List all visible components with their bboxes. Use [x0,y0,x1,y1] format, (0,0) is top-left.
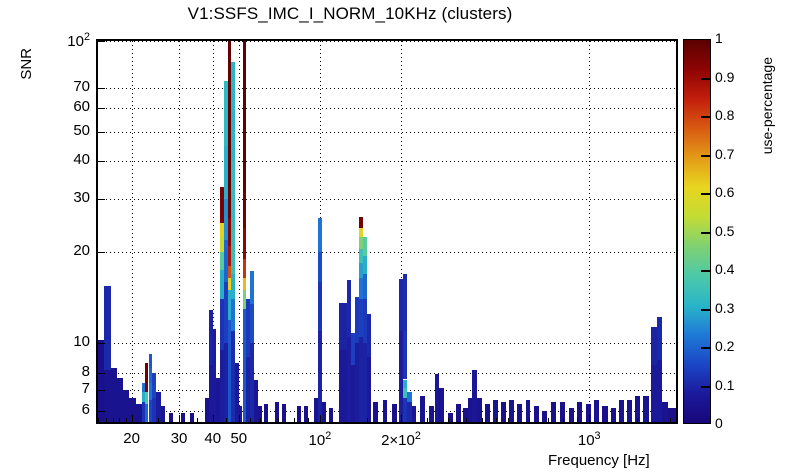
colorbar-title: use-percentage [759,57,775,154]
histogram-column [668,408,676,422]
x-axis-minor-tick [529,418,530,422]
gridline-vertical [179,41,180,422]
histogram-cell [407,392,411,402]
histogram-cell [403,380,408,389]
histogram-cell [231,274,235,300]
histogram-cell [104,286,110,370]
colorbar-label: 0.2 [715,339,734,353]
histogram-column [420,396,424,422]
histogram-cell [231,299,235,331]
histogram-cell [611,408,616,422]
histogram-cell [392,404,396,422]
histogram-column [619,400,624,422]
histogram-cell [243,290,247,309]
histogram-column [501,402,506,422]
gridline-vertical [589,41,590,422]
histogram-cell [403,331,408,380]
x-axis-title: Frequency [Hz] [548,452,650,469]
histogram-cell [477,398,482,422]
histogram-cell [228,266,232,277]
gridline-horizontal [98,108,676,109]
histogram-column [509,400,514,422]
x-axis-minor-tick [496,418,497,422]
histogram-cell [228,278,232,291]
histogram-cell [231,62,235,161]
histogram-cell [347,280,351,337]
histogram-cell [619,400,624,422]
y-axis-tick [98,88,105,89]
x-axis-minor-tick [308,418,309,422]
y-axis-label: 60 [20,99,90,114]
histogram-cell [228,320,232,422]
gridline-horizontal [98,252,676,253]
y-axis-label: 50 [20,123,90,138]
colorbar-label: 0.1 [715,378,734,392]
histogram-column [611,408,616,422]
histogram-column [534,406,539,422]
x-axis-minor-tick [548,418,549,422]
colorbar-tick [701,155,710,157]
y-axis-label: 8 [20,364,90,379]
x-axis-minor-tick [278,418,279,422]
y-axis-label: 20 [20,243,90,258]
y-axis-label: 10 [20,334,90,349]
gridline-horizontal [98,199,676,200]
histogram-column [429,406,433,422]
plot-frame [96,39,678,424]
x-axis-minor-tick [294,418,295,422]
x-axis-label: 2×102 [361,431,441,448]
histogram-cell [282,404,286,422]
x-axis-minor-tick [563,418,564,422]
histogram-cell [250,271,254,304]
histogram-cell [420,396,424,422]
histogram-cell [181,413,185,422]
x-axis-tick [239,415,240,422]
x-axis-tick [179,415,180,422]
histogram-column [456,404,461,422]
x-axis-minor-tick [448,418,449,422]
histogram-cell [149,354,153,368]
histogram-cell [264,404,268,422]
histogram-column [569,408,574,422]
y-axis-label: 40 [20,152,90,167]
histogram-cell [243,41,247,191]
histogram-cell [373,402,377,422]
colorbar-label: 0.5 [715,224,734,238]
y-axis-tick [98,252,105,253]
histogram-cell [403,274,408,331]
colorbar-label: 1 [715,31,723,45]
histogram-cell [367,314,371,357]
histogram-column [297,406,301,422]
histogram-column [517,404,522,422]
histogram-cell [213,329,217,373]
colorbar-tick [701,232,710,234]
histogram-cell [359,228,363,236]
colorbar-tick [701,78,710,80]
y-axis-title: SNR [18,48,35,80]
histogram-cell [243,309,247,422]
gridline-horizontal [98,132,676,133]
colorbar-label: 0 [715,416,723,430]
histogram-column [383,400,387,422]
histogram-cell [534,406,539,422]
x-axis-label: 50 [199,431,279,446]
y-axis-tick [98,343,105,344]
histogram-cell [657,317,663,360]
y-axis-label: 6 [20,402,90,417]
histogram-column [439,388,444,422]
histogram-cell [322,402,326,422]
colorbar-label: 0.4 [715,262,734,276]
histogram-column [602,406,607,422]
colorbar-tick [701,116,710,118]
x-axis-minor-tick [367,418,368,422]
x-axis-minor-tick [197,418,198,422]
gridline-horizontal [98,88,676,89]
histogram-cell [429,406,433,422]
histogram-column [322,402,326,422]
histogram-column [392,404,396,422]
histogram-cell [243,278,247,291]
histogram-column [412,406,417,422]
gridline-vertical [132,41,133,422]
histogram-cell [363,237,367,256]
histogram-cell [643,396,648,422]
colorbar-tick [701,193,710,195]
gridline-vertical [239,41,240,422]
histogram-cell [363,256,367,274]
gridline-horizontal [98,343,676,344]
histogram-cell [359,217,363,229]
histogram-cell [569,408,574,422]
histogram-cell [161,406,165,422]
histogram-column [551,402,556,422]
y-axis-tick [98,411,105,412]
histogram-cell [485,404,490,422]
histogram-column [243,41,247,422]
histogram-cell [228,187,232,218]
colorbar-label: 0.3 [715,301,734,315]
histogram-column [373,402,377,422]
histogram-column [485,404,490,422]
histogram-cell [501,402,506,422]
histogram-column [181,413,185,422]
histogram-column [169,413,173,422]
y-axis-label: 70 [20,79,90,94]
y-axis-tick [98,161,105,162]
histogram-cell [439,388,444,422]
plot-canvas: V1:SSFS_IMC_I_NORM_10KHz (clusters) SNR … [0,0,805,472]
histogram-column [190,413,194,422]
x-axis-tick [132,415,133,422]
histogram-cell [104,370,110,422]
colorbar-label: 0.7 [715,147,734,161]
histogram-cell [318,282,322,331]
gridline-horizontal [98,373,676,374]
histogram-column [643,396,648,422]
x-axis-minor-tick [466,418,467,422]
colorbar-tick [701,309,710,311]
histogram-cell [231,228,235,273]
histogram-cell [250,304,254,343]
histogram-cell [668,408,676,422]
gridline-horizontal [98,161,676,162]
colorbar-tick [701,270,710,272]
y-axis-label: 30 [20,190,90,205]
y-axis-tick [98,390,105,391]
y-axis-tick [98,41,105,42]
x-axis-label: 103 [549,431,629,448]
histogram-cell [228,218,232,246]
histogram-cell [517,404,522,422]
histogram-cell [594,400,599,422]
x-axis-minor-tick [670,418,671,422]
x-axis-tick [589,415,590,422]
histogram-column [318,218,322,422]
x-axis-tick [320,415,321,422]
colorbar-label: 0.6 [715,185,734,199]
histogram-cell [456,404,461,422]
x-axis-minor-tick [577,418,578,422]
histogram-cell [383,400,387,422]
x-axis-minor-tick [260,418,261,422]
colorbar-label: 0.9 [715,70,734,84]
x-axis-tick [401,415,402,422]
y-axis-tick [98,373,105,374]
x-axis-minor-tick [482,418,483,422]
histogram-column [627,400,632,422]
histogram-column [228,41,232,422]
x-axis-tick [213,415,214,422]
histogram-cell [627,400,632,422]
histogram-cell [231,161,235,228]
histogram-column [264,404,268,422]
histogram-column [367,314,371,422]
y-axis-label: 7 [20,381,90,396]
histogram-column [329,408,333,422]
histogram-cell [152,373,156,385]
histogram-cell [412,406,417,422]
histogram-cell [602,406,607,422]
histogram-cell [190,413,194,422]
histogram-cell [243,228,247,259]
y-axis-label: 102 [20,32,90,49]
y-axis-tick [98,199,105,200]
x-axis-minor-tick [119,418,120,422]
x-axis-minor-tick [508,418,509,422]
histogram-cell [228,246,232,266]
histogram-column [104,286,110,422]
x-axis-minor-tick [113,418,114,422]
histogram-cell [318,252,322,281]
colorbar-tick [701,347,710,349]
histogram-cell [329,408,333,422]
histogram-cell [367,357,371,422]
colorbar-label: 0.8 [715,108,734,122]
x-axis-minor-tick [126,418,127,422]
histogram-column [161,406,165,422]
x-axis-minor-tick [637,418,638,422]
x-axis-minor-tick [98,418,99,422]
y-axis-tick [98,108,105,109]
histogram-cell [169,413,173,422]
gridline-horizontal [98,41,676,42]
histogram-cell [243,259,247,278]
histogram-cell [509,400,514,422]
histogram-cell [228,290,232,319]
histogram-column [477,398,482,422]
y-axis-tick [98,132,105,133]
histogram-column [282,404,286,422]
histogram-cell [243,191,247,229]
x-axis-label: 102 [280,431,360,448]
histogram-cell [228,41,232,187]
plot-area [98,41,676,422]
histogram-cell [551,402,556,422]
histogram-cell [318,218,322,252]
histogram-cell [363,274,367,300]
histogram-cell [297,406,301,422]
x-axis-minor-tick [106,418,107,422]
x-axis-minor-tick [250,418,251,422]
x-axis-minor-tick [427,418,428,422]
chart-title: V1:SSFS_IMC_I_NORM_10KHz (clusters) [0,4,700,24]
gridline-horizontal [98,390,676,391]
colorbar-tick [701,386,710,388]
histogram-column [594,400,599,422]
x-axis-minor-tick [158,418,159,422]
